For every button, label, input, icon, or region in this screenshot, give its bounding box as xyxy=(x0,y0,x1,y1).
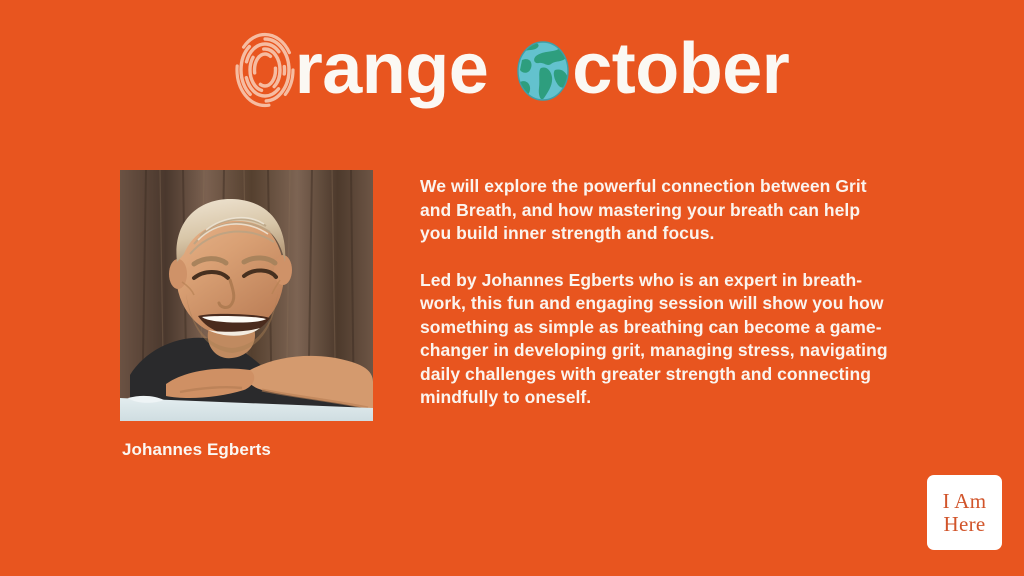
i-am-here-logo: I Am Here xyxy=(927,475,1002,550)
title-word-orange: range xyxy=(235,30,489,108)
title-word-october-text: ctober xyxy=(572,30,789,108)
speaker-photo xyxy=(120,170,373,421)
speaker-name-caption: Johannes Egberts xyxy=(122,438,271,462)
description-paragraph-1: We will explore the powerful connection … xyxy=(420,175,890,246)
logo-line-two: Here xyxy=(943,513,985,536)
slide-title: range xyxy=(0,28,1024,110)
session-description: We will explore the powerful connection … xyxy=(420,175,890,410)
globe-earth-o-icon xyxy=(514,30,572,108)
slide-canvas: range xyxy=(0,0,1024,576)
title-word-orange-text: range xyxy=(295,30,489,108)
fingerprint-ring-o-icon xyxy=(235,30,295,108)
description-paragraph-2: Led by Johannes Egberts who is an expert… xyxy=(420,269,890,410)
title-word-gap xyxy=(488,69,514,70)
title-word-october: ctober xyxy=(514,30,789,108)
logo-line-one: I Am xyxy=(943,490,987,513)
